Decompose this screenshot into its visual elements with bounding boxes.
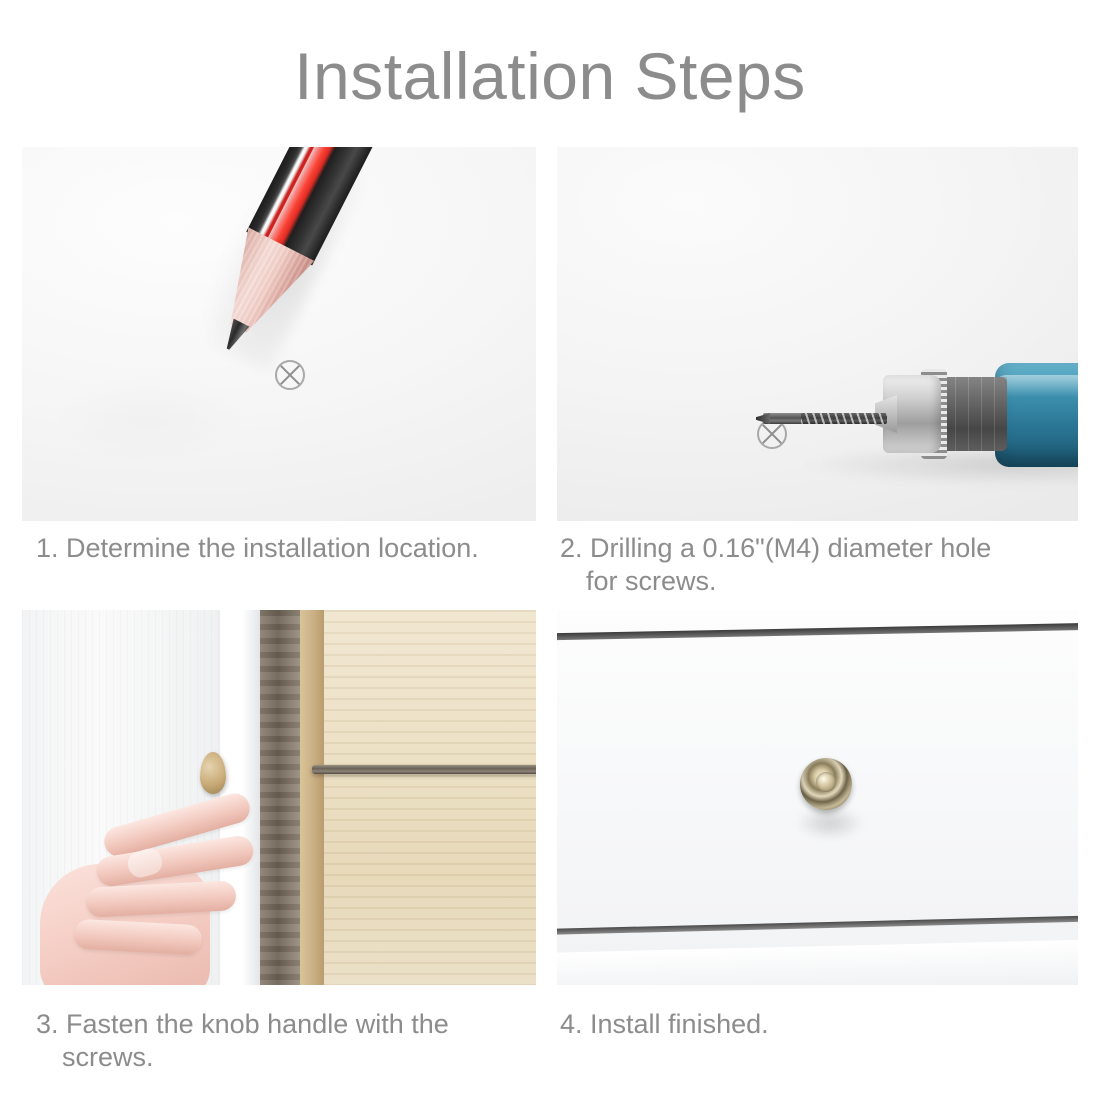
step-2-caption-line-2: for screws.: [560, 565, 1080, 598]
step-2-caption-line-1: 2. Drilling a 0.16"(M4) diameter hole: [560, 533, 991, 563]
installed-knob-icon: [800, 758, 852, 810]
page-title: Installation Steps: [0, 36, 1100, 116]
step-2-caption: 2. Drilling a 0.16"(M4) diameter hole fo…: [560, 532, 1080, 598]
step-3-caption-line-1: 3. Fasten the knob handle with the: [36, 1009, 449, 1039]
drawer-interior-wood: [324, 610, 536, 985]
knob-shadow: [795, 806, 865, 840]
hand-icon: [40, 806, 260, 985]
electric-drill-icon: [773, 355, 1078, 475]
step-4-caption-line-1: 4. Install finished.: [560, 1009, 769, 1039]
step-3-caption: 3. Fasten the knob handle with the screw…: [36, 1008, 536, 1074]
knob-being-fastened: [200, 752, 226, 794]
step-1-caption-line-1: 1. Determine the installation location.: [36, 533, 479, 563]
screw-icon: [312, 765, 536, 774]
drawer-wood-frame: [300, 610, 324, 985]
step-3-caption-line-2: screws.: [36, 1041, 536, 1074]
installation-steps-infographic: Installation Steps 1. Determine the inst…: [0, 0, 1100, 1100]
step-1-caption: 1. Determine the installation location.: [36, 532, 546, 565]
step-3-image: [22, 610, 536, 985]
ring-finger: [85, 880, 236, 918]
step-4-image: [557, 610, 1078, 985]
drill-body: [995, 363, 1078, 467]
drill-bit-flutes: [801, 413, 887, 424]
step-2-image: [557, 147, 1078, 521]
step-4-caption: 4. Install finished.: [560, 1008, 1060, 1041]
drawer-side-gap: [260, 610, 300, 985]
knob-center-dome: [816, 772, 836, 792]
step-1-image: [22, 147, 536, 521]
circled-x-mark-icon: [275, 360, 305, 390]
